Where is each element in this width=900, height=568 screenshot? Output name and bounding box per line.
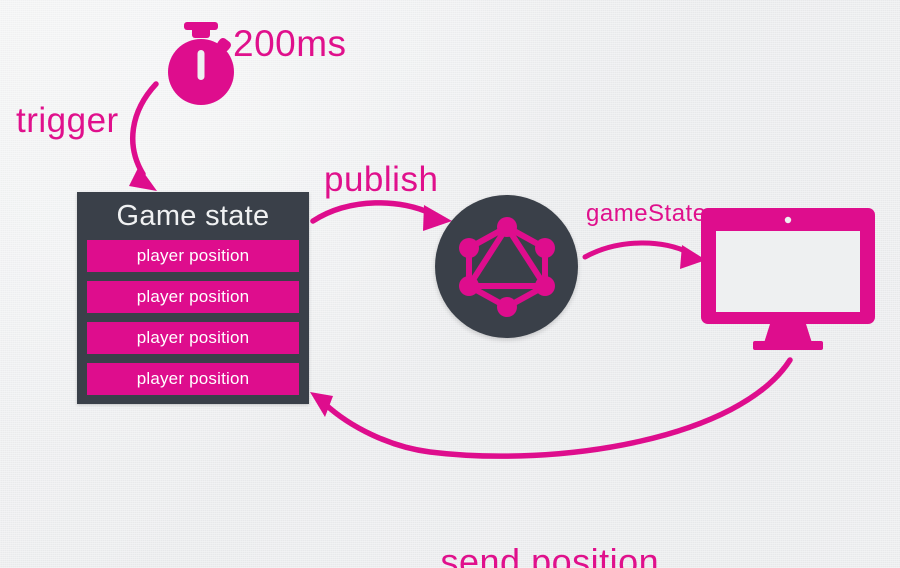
interval-label: 200ms xyxy=(233,23,347,64)
game-state-title: Game state xyxy=(87,200,299,233)
publish-label: publish xyxy=(324,160,438,199)
player-position-row: player position xyxy=(87,322,299,354)
player-position-row: player position xyxy=(87,240,299,272)
game-state-panel: Game state player position player positi… xyxy=(77,192,309,404)
gamestate-label: gameState xyxy=(586,201,707,228)
send-position-line-1: send position xyxy=(441,542,660,568)
send-position-caption: send position every 100ms xyxy=(441,461,660,568)
graphql-server-node xyxy=(435,195,578,338)
send-position-arrow xyxy=(310,360,790,456)
trigger-arrow xyxy=(129,84,157,191)
player-position-row: player position xyxy=(87,281,299,313)
graphql-logo-icon xyxy=(457,215,557,319)
player-position-row: player position xyxy=(87,363,299,395)
client-monitor-node xyxy=(698,205,878,358)
gamestate-arrow xyxy=(585,243,706,269)
diagram-canvas: .stroke-mag { fill: none; stroke: #de0d8… xyxy=(0,0,900,568)
trigger-label: trigger xyxy=(16,101,119,140)
stopwatch-icon xyxy=(163,22,241,111)
publish-arrow xyxy=(313,203,452,231)
desktop-monitor-icon xyxy=(698,205,878,353)
